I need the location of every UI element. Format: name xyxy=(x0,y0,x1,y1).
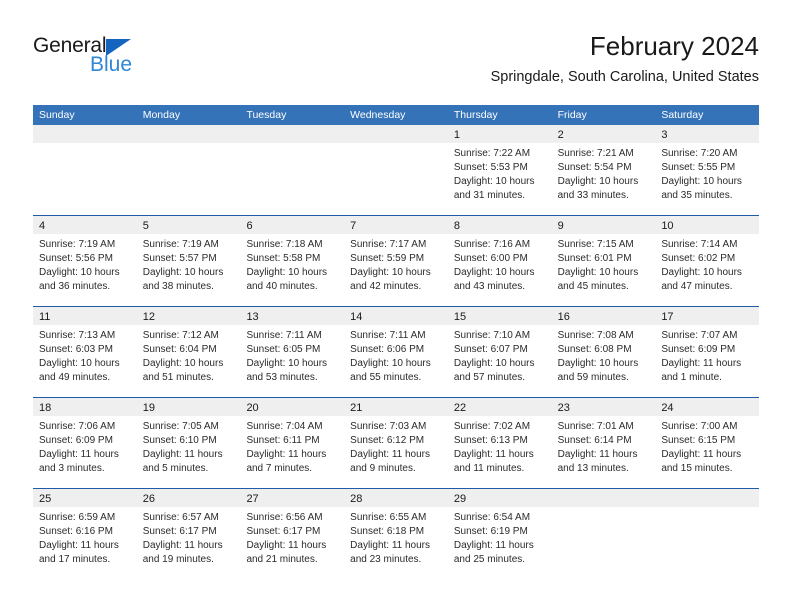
day-details: Sunrise: 6:56 AM Sunset: 6:17 PM Dayligh… xyxy=(240,507,344,567)
day-details: Sunrise: 7:15 AM Sunset: 6:01 PM Dayligh… xyxy=(552,234,656,294)
daylight-text-line2: and 5 minutes. xyxy=(143,462,235,476)
daylight-text-line2: and 23 minutes. xyxy=(350,553,442,567)
day-cell[interactable]: 27 Sunrise: 6:56 AM Sunset: 6:17 PM Dayl… xyxy=(240,489,344,579)
daylight-text-line2: and 45 minutes. xyxy=(558,280,650,294)
daylight-text-line2: and 31 minutes. xyxy=(454,189,546,203)
sunset-text: Sunset: 6:16 PM xyxy=(39,525,131,539)
sunset-text: Sunset: 6:05 PM xyxy=(246,343,338,357)
page-title: February 2024 xyxy=(491,30,759,62)
calendar-page: General Blue February 2024 Springdale, S… xyxy=(0,0,792,612)
daylight-text-line2: and 36 minutes. xyxy=(39,280,131,294)
weekday-header-tuesday: Tuesday xyxy=(240,105,344,125)
sunrise-text: Sunrise: 7:19 AM xyxy=(39,238,131,252)
sunset-text: Sunset: 5:56 PM xyxy=(39,252,131,266)
day-number: 26 xyxy=(143,493,155,505)
sunset-text: Sunset: 6:09 PM xyxy=(661,343,753,357)
daylight-text-line2: and 49 minutes. xyxy=(39,371,131,385)
day-number: 15 xyxy=(454,311,466,323)
daylight-text-line2: and 47 minutes. xyxy=(661,280,753,294)
day-number: 2 xyxy=(558,129,564,141)
day-number: 29 xyxy=(454,493,466,505)
daylight-text-line1: Daylight: 11 hours xyxy=(246,448,338,462)
daylight-text-line1: Daylight: 11 hours xyxy=(350,539,442,553)
logo-text-blue: Blue xyxy=(90,53,132,77)
day-details xyxy=(344,143,448,147)
day-number-band xyxy=(344,125,448,143)
daylight-text-line2: and 7 minutes. xyxy=(246,462,338,476)
day-cell[interactable]: 7 Sunrise: 7:17 AM Sunset: 5:59 PM Dayli… xyxy=(344,216,448,306)
day-cell[interactable]: 5 Sunrise: 7:19 AM Sunset: 5:57 PM Dayli… xyxy=(137,216,241,306)
day-cell[interactable]: 29 Sunrise: 6:54 AM Sunset: 6:19 PM Dayl… xyxy=(448,489,552,579)
day-details: Sunrise: 7:18 AM Sunset: 5:58 PM Dayligh… xyxy=(240,234,344,294)
day-details: Sunrise: 6:55 AM Sunset: 6:18 PM Dayligh… xyxy=(344,507,448,567)
day-details: Sunrise: 7:01 AM Sunset: 6:14 PM Dayligh… xyxy=(552,416,656,476)
title-block: February 2024 Springdale, South Carolina… xyxy=(491,30,759,87)
sunrise-text: Sunrise: 7:06 AM xyxy=(39,420,131,434)
weekday-header-thursday: Thursday xyxy=(448,105,552,125)
daylight-text-line1: Daylight: 10 hours xyxy=(558,266,650,280)
daylight-text-line1: Daylight: 10 hours xyxy=(661,266,753,280)
day-details: Sunrise: 7:07 AM Sunset: 6:09 PM Dayligh… xyxy=(655,325,759,385)
day-cell[interactable]: 18 Sunrise: 7:06 AM Sunset: 6:09 PM Dayl… xyxy=(33,398,137,488)
sunrise-text: Sunrise: 7:18 AM xyxy=(246,238,338,252)
day-number: 18 xyxy=(39,402,51,414)
daylight-text-line1: Daylight: 10 hours xyxy=(143,266,235,280)
daylight-text-line1: Daylight: 11 hours xyxy=(143,448,235,462)
general-blue-logo[interactable]: General Blue xyxy=(33,34,233,82)
day-details: Sunrise: 7:11 AM Sunset: 6:06 PM Dayligh… xyxy=(344,325,448,385)
sunset-text: Sunset: 6:14 PM xyxy=(558,434,650,448)
daylight-text-line1: Daylight: 11 hours xyxy=(39,539,131,553)
sunrise-text: Sunrise: 7:00 AM xyxy=(661,420,753,434)
day-cell[interactable]: 28 Sunrise: 6:55 AM Sunset: 6:18 PM Dayl… xyxy=(344,489,448,579)
sunrise-text: Sunrise: 7:01 AM xyxy=(558,420,650,434)
daylight-text-line1: Daylight: 10 hours xyxy=(39,357,131,371)
day-number-band: 7 xyxy=(344,216,448,234)
sunset-text: Sunset: 5:54 PM xyxy=(558,161,650,175)
day-cell[interactable]: 4 Sunrise: 7:19 AM Sunset: 5:56 PM Dayli… xyxy=(33,216,137,306)
day-details: Sunrise: 7:02 AM Sunset: 6:13 PM Dayligh… xyxy=(448,416,552,476)
daylight-text-line1: Daylight: 11 hours xyxy=(661,357,753,371)
day-number-band: 27 xyxy=(240,489,344,507)
day-details: Sunrise: 7:12 AM Sunset: 6:04 PM Dayligh… xyxy=(137,325,241,385)
sunrise-text: Sunrise: 6:54 AM xyxy=(454,511,546,525)
day-number-band: 29 xyxy=(448,489,552,507)
sunset-text: Sunset: 6:00 PM xyxy=(454,252,546,266)
day-number-band: 6 xyxy=(240,216,344,234)
daylight-text-line1: Daylight: 11 hours xyxy=(661,448,753,462)
day-number: 23 xyxy=(558,402,570,414)
day-details: Sunrise: 7:00 AM Sunset: 6:15 PM Dayligh… xyxy=(655,416,759,476)
day-details xyxy=(552,507,656,511)
day-cell[interactable]: 26 Sunrise: 6:57 AM Sunset: 6:17 PM Dayl… xyxy=(137,489,241,579)
day-details: Sunrise: 7:14 AM Sunset: 6:02 PM Dayligh… xyxy=(655,234,759,294)
sunrise-text: Sunrise: 7:11 AM xyxy=(350,329,442,343)
sunrise-text: Sunrise: 7:13 AM xyxy=(39,329,131,343)
sunrise-text: Sunrise: 7:22 AM xyxy=(454,147,546,161)
day-cell[interactable]: 8 Sunrise: 7:16 AM Sunset: 6:00 PM Dayli… xyxy=(448,216,552,306)
daylight-text-line2: and 33 minutes. xyxy=(558,189,650,203)
sunrise-text: Sunrise: 7:14 AM xyxy=(661,238,753,252)
sunrise-text: Sunrise: 7:05 AM xyxy=(143,420,235,434)
sunrise-text: Sunrise: 7:02 AM xyxy=(454,420,546,434)
day-number: 20 xyxy=(246,402,258,414)
weekday-header-sunday: Sunday xyxy=(33,105,137,125)
day-details: Sunrise: 7:10 AM Sunset: 6:07 PM Dayligh… xyxy=(448,325,552,385)
day-cell xyxy=(240,125,344,215)
day-cell[interactable]: 14 Sunrise: 7:11 AM Sunset: 6:06 PM Dayl… xyxy=(344,307,448,397)
daylight-text-line1: Daylight: 10 hours xyxy=(350,266,442,280)
sunrise-text: Sunrise: 7:16 AM xyxy=(454,238,546,252)
day-number-band: 12 xyxy=(137,307,241,325)
day-details: Sunrise: 7:05 AM Sunset: 6:10 PM Dayligh… xyxy=(137,416,241,476)
day-number-band: 20 xyxy=(240,398,344,416)
daylight-text-line2: and 55 minutes. xyxy=(350,371,442,385)
day-number-band: 11 xyxy=(33,307,137,325)
sunrise-text: Sunrise: 7:03 AM xyxy=(350,420,442,434)
day-number-band xyxy=(33,125,137,143)
day-cell[interactable]: 24 Sunrise: 7:00 AM Sunset: 6:15 PM Dayl… xyxy=(655,398,759,488)
sunset-text: Sunset: 6:03 PM xyxy=(39,343,131,357)
daylight-text-line1: Daylight: 10 hours xyxy=(558,357,650,371)
sunrise-text: Sunrise: 7:08 AM xyxy=(558,329,650,343)
day-number: 1 xyxy=(454,129,460,141)
sunrise-text: Sunrise: 6:59 AM xyxy=(39,511,131,525)
day-details: Sunrise: 7:03 AM Sunset: 6:12 PM Dayligh… xyxy=(344,416,448,476)
day-number-band: 21 xyxy=(344,398,448,416)
sunrise-text: Sunrise: 7:15 AM xyxy=(558,238,650,252)
day-cell[interactable]: 23 Sunrise: 7:01 AM Sunset: 6:14 PM Dayl… xyxy=(552,398,656,488)
daylight-text-line2: and 25 minutes. xyxy=(454,553,546,567)
sunset-text: Sunset: 6:15 PM xyxy=(661,434,753,448)
daylight-text-line2: and 57 minutes. xyxy=(454,371,546,385)
day-cell xyxy=(33,125,137,215)
daylight-text-line2: and 38 minutes. xyxy=(143,280,235,294)
sunset-text: Sunset: 5:53 PM xyxy=(454,161,546,175)
day-number-band: 2 xyxy=(552,125,656,143)
day-details: Sunrise: 7:06 AM Sunset: 6:09 PM Dayligh… xyxy=(33,416,137,476)
day-cell[interactable]: 1 Sunrise: 7:22 AM Sunset: 5:53 PM Dayli… xyxy=(448,125,552,215)
day-number-band: 24 xyxy=(655,398,759,416)
day-number: 11 xyxy=(39,311,50,323)
day-details: Sunrise: 7:16 AM Sunset: 6:00 PM Dayligh… xyxy=(448,234,552,294)
day-number: 8 xyxy=(454,220,460,232)
sunrise-text: Sunrise: 6:56 AM xyxy=(246,511,338,525)
day-cell[interactable]: 9 Sunrise: 7:15 AM Sunset: 6:01 PM Dayli… xyxy=(552,216,656,306)
day-number-band: 10 xyxy=(655,216,759,234)
day-details: Sunrise: 7:08 AM Sunset: 6:08 PM Dayligh… xyxy=(552,325,656,385)
daylight-text-line2: and 42 minutes. xyxy=(350,280,442,294)
day-details: Sunrise: 7:21 AM Sunset: 5:54 PM Dayligh… xyxy=(552,143,656,203)
day-number-band: 17 xyxy=(655,307,759,325)
day-details: Sunrise: 7:11 AM Sunset: 6:05 PM Dayligh… xyxy=(240,325,344,385)
week-row: 4 Sunrise: 7:19 AM Sunset: 5:56 PM Dayli… xyxy=(33,215,759,306)
day-number: 7 xyxy=(350,220,356,232)
daylight-text-line1: Daylight: 11 hours xyxy=(454,448,546,462)
daylight-text-line1: Daylight: 10 hours xyxy=(454,357,546,371)
day-number-band: 18 xyxy=(33,398,137,416)
sunrise-text: Sunrise: 7:20 AM xyxy=(661,147,753,161)
sunrise-text: Sunrise: 7:12 AM xyxy=(143,329,235,343)
sunset-text: Sunset: 5:59 PM xyxy=(350,252,442,266)
day-details: Sunrise: 6:57 AM Sunset: 6:17 PM Dayligh… xyxy=(137,507,241,567)
day-number: 9 xyxy=(558,220,564,232)
day-cell[interactable]: 21 Sunrise: 7:03 AM Sunset: 6:12 PM Dayl… xyxy=(344,398,448,488)
day-number-band xyxy=(655,489,759,507)
day-details: Sunrise: 7:22 AM Sunset: 5:53 PM Dayligh… xyxy=(448,143,552,203)
week-row: 1 Sunrise: 7:22 AM Sunset: 5:53 PM Dayli… xyxy=(33,125,759,215)
daylight-text-line2: and 21 minutes. xyxy=(246,553,338,567)
week-row: 25 Sunrise: 6:59 AM Sunset: 6:16 PM Dayl… xyxy=(33,488,759,579)
day-cell[interactable]: 16 Sunrise: 7:08 AM Sunset: 6:08 PM Dayl… xyxy=(552,307,656,397)
day-cell[interactable]: 2 Sunrise: 7:21 AM Sunset: 5:54 PM Dayli… xyxy=(552,125,656,215)
sunrise-text: Sunrise: 7:10 AM xyxy=(454,329,546,343)
sunset-text: Sunset: 6:07 PM xyxy=(454,343,546,357)
day-number: 4 xyxy=(39,220,45,232)
daylight-text-line2: and 1 minute. xyxy=(661,371,753,385)
day-number-band: 25 xyxy=(33,489,137,507)
day-number-band: 3 xyxy=(655,125,759,143)
daylight-text-line2: and 53 minutes. xyxy=(246,371,338,385)
day-cell[interactable]: 12 Sunrise: 7:12 AM Sunset: 6:04 PM Dayl… xyxy=(137,307,241,397)
daylight-text-line2: and 13 minutes. xyxy=(558,462,650,476)
day-number-band: 14 xyxy=(344,307,448,325)
daylight-text-line1: Daylight: 11 hours xyxy=(558,448,650,462)
daylight-text-line1: Daylight: 11 hours xyxy=(350,448,442,462)
day-cell[interactable]: 11 Sunrise: 7:13 AM Sunset: 6:03 PM Dayl… xyxy=(33,307,137,397)
day-number: 12 xyxy=(143,311,155,323)
sunset-text: Sunset: 6:06 PM xyxy=(350,343,442,357)
sunset-text: Sunset: 6:01 PM xyxy=(558,252,650,266)
day-number: 27 xyxy=(246,493,258,505)
day-number-band: 28 xyxy=(344,489,448,507)
day-number: 17 xyxy=(661,311,673,323)
day-number-band: 1 xyxy=(448,125,552,143)
weekday-header-row: Sunday Monday Tuesday Wednesday Thursday… xyxy=(33,105,759,125)
day-details: Sunrise: 7:20 AM Sunset: 5:55 PM Dayligh… xyxy=(655,143,759,203)
sunset-text: Sunset: 5:55 PM xyxy=(661,161,753,175)
daylight-text-line1: Daylight: 10 hours xyxy=(558,175,650,189)
sunrise-text: Sunrise: 7:21 AM xyxy=(558,147,650,161)
week-row: 18 Sunrise: 7:06 AM Sunset: 6:09 PM Dayl… xyxy=(33,397,759,488)
day-details: Sunrise: 6:54 AM Sunset: 6:19 PM Dayligh… xyxy=(448,507,552,567)
day-details: Sunrise: 7:04 AM Sunset: 6:11 PM Dayligh… xyxy=(240,416,344,476)
day-number-band: 23 xyxy=(552,398,656,416)
day-cell[interactable]: 22 Sunrise: 7:02 AM Sunset: 6:13 PM Dayl… xyxy=(448,398,552,488)
sunrise-text: Sunrise: 7:11 AM xyxy=(246,329,338,343)
day-cell xyxy=(137,125,241,215)
day-cell[interactable]: 3 Sunrise: 7:20 AM Sunset: 5:55 PM Dayli… xyxy=(655,125,759,215)
day-number: 21 xyxy=(350,402,362,414)
daylight-text-line1: Daylight: 10 hours xyxy=(454,175,546,189)
day-cell[interactable]: 19 Sunrise: 7:05 AM Sunset: 6:10 PM Dayl… xyxy=(137,398,241,488)
day-cell[interactable]: 13 Sunrise: 7:11 AM Sunset: 6:05 PM Dayl… xyxy=(240,307,344,397)
day-cell[interactable]: 25 Sunrise: 6:59 AM Sunset: 6:16 PM Dayl… xyxy=(33,489,137,579)
daylight-text-line1: Daylight: 11 hours xyxy=(39,448,131,462)
daylight-text-line1: Daylight: 10 hours xyxy=(143,357,235,371)
daylight-text-line1: Daylight: 11 hours xyxy=(143,539,235,553)
sunset-text: Sunset: 6:04 PM xyxy=(143,343,235,357)
day-cell[interactable]: 17 Sunrise: 7:07 AM Sunset: 6:09 PM Dayl… xyxy=(655,307,759,397)
daylight-text-line2: and 11 minutes. xyxy=(454,462,546,476)
day-number-band: 8 xyxy=(448,216,552,234)
day-number: 25 xyxy=(39,493,51,505)
week-row: 11 Sunrise: 7:13 AM Sunset: 6:03 PM Dayl… xyxy=(33,306,759,397)
day-number-band: 19 xyxy=(137,398,241,416)
day-cell xyxy=(552,489,656,579)
day-number: 22 xyxy=(454,402,466,414)
day-number: 28 xyxy=(350,493,362,505)
daylight-text-line1: Daylight: 10 hours xyxy=(661,175,753,189)
day-details xyxy=(137,143,241,147)
sunrise-text: Sunrise: 7:07 AM xyxy=(661,329,753,343)
sunset-text: Sunset: 6:18 PM xyxy=(350,525,442,539)
daylight-text-line2: and 35 minutes. xyxy=(661,189,753,203)
location-subtitle: Springdale, South Carolina, United State… xyxy=(491,67,759,87)
day-number-band: 26 xyxy=(137,489,241,507)
daylight-text-line2: and 59 minutes. xyxy=(558,371,650,385)
day-number: 10 xyxy=(661,220,673,232)
sunset-text: Sunset: 6:19 PM xyxy=(454,525,546,539)
day-number: 19 xyxy=(143,402,155,414)
sunrise-text: Sunrise: 7:17 AM xyxy=(350,238,442,252)
day-details xyxy=(240,143,344,147)
daylight-text-line2: and 15 minutes. xyxy=(661,462,753,476)
calendar-grid: Sunday Monday Tuesday Wednesday Thursday… xyxy=(33,105,759,579)
day-details xyxy=(33,143,137,147)
day-details: Sunrise: 7:13 AM Sunset: 6:03 PM Dayligh… xyxy=(33,325,137,385)
day-cell[interactable]: 6 Sunrise: 7:18 AM Sunset: 5:58 PM Dayli… xyxy=(240,216,344,306)
daylight-text-line1: Daylight: 10 hours xyxy=(246,266,338,280)
day-number: 3 xyxy=(661,129,667,141)
daylight-text-line2: and 43 minutes. xyxy=(454,280,546,294)
daylight-text-line2: and 3 minutes. xyxy=(39,462,131,476)
day-cell[interactable]: 10 Sunrise: 7:14 AM Sunset: 6:02 PM Dayl… xyxy=(655,216,759,306)
sunset-text: Sunset: 6:11 PM xyxy=(246,434,338,448)
weekday-header-saturday: Saturday xyxy=(655,105,759,125)
day-number: 13 xyxy=(246,311,258,323)
sunset-text: Sunset: 6:08 PM xyxy=(558,343,650,357)
sunset-text: Sunset: 6:02 PM xyxy=(661,252,753,266)
sunset-text: Sunset: 6:17 PM xyxy=(246,525,338,539)
day-details: Sunrise: 6:59 AM Sunset: 6:16 PM Dayligh… xyxy=(33,507,137,567)
sunset-text: Sunset: 6:12 PM xyxy=(350,434,442,448)
day-number: 5 xyxy=(143,220,149,232)
sunrise-text: Sunrise: 7:04 AM xyxy=(246,420,338,434)
day-number: 16 xyxy=(558,311,570,323)
sunset-text: Sunset: 6:10 PM xyxy=(143,434,235,448)
day-number: 24 xyxy=(661,402,673,414)
daylight-text-line1: Daylight: 11 hours xyxy=(454,539,546,553)
day-cell[interactable]: 20 Sunrise: 7:04 AM Sunset: 6:11 PM Dayl… xyxy=(240,398,344,488)
day-number-band: 4 xyxy=(33,216,137,234)
sunset-text: Sunset: 6:13 PM xyxy=(454,434,546,448)
daylight-text-line2: and 51 minutes. xyxy=(143,371,235,385)
daylight-text-line1: Daylight: 10 hours xyxy=(39,266,131,280)
day-cell xyxy=(344,125,448,215)
sunrise-text: Sunrise: 6:55 AM xyxy=(350,511,442,525)
daylight-text-line1: Daylight: 11 hours xyxy=(246,539,338,553)
daylight-text-line1: Daylight: 10 hours xyxy=(454,266,546,280)
weekday-header-monday: Monday xyxy=(137,105,241,125)
sunset-text: Sunset: 6:09 PM xyxy=(39,434,131,448)
day-number-band: 22 xyxy=(448,398,552,416)
day-details: Sunrise: 7:19 AM Sunset: 5:56 PM Dayligh… xyxy=(33,234,137,294)
daylight-text-line2: and 17 minutes. xyxy=(39,553,131,567)
page-header: General Blue February 2024 Springdale, S… xyxy=(33,30,759,92)
sunrise-text: Sunrise: 6:57 AM xyxy=(143,511,235,525)
weekday-header-wednesday: Wednesday xyxy=(344,105,448,125)
sunset-text: Sunset: 5:58 PM xyxy=(246,252,338,266)
day-number: 14 xyxy=(350,311,362,323)
weekday-header-friday: Friday xyxy=(552,105,656,125)
day-cell xyxy=(655,489,759,579)
daylight-text-line1: Daylight: 10 hours xyxy=(246,357,338,371)
day-number-band: 13 xyxy=(240,307,344,325)
day-number-band: 16 xyxy=(552,307,656,325)
day-details: Sunrise: 7:19 AM Sunset: 5:57 PM Dayligh… xyxy=(137,234,241,294)
day-number-band xyxy=(137,125,241,143)
day-number-band: 15 xyxy=(448,307,552,325)
sunrise-text: Sunrise: 7:19 AM xyxy=(143,238,235,252)
day-number-band xyxy=(240,125,344,143)
daylight-text-line1: Daylight: 10 hours xyxy=(350,357,442,371)
day-number-band: 9 xyxy=(552,216,656,234)
day-number-band: 5 xyxy=(137,216,241,234)
day-number-band xyxy=(552,489,656,507)
daylight-text-line2: and 19 minutes. xyxy=(143,553,235,567)
day-cell[interactable]: 15 Sunrise: 7:10 AM Sunset: 6:07 PM Dayl… xyxy=(448,307,552,397)
day-details xyxy=(655,507,759,511)
daylight-text-line2: and 40 minutes. xyxy=(246,280,338,294)
daylight-text-line2: and 9 minutes. xyxy=(350,462,442,476)
sunset-text: Sunset: 5:57 PM xyxy=(143,252,235,266)
sunset-text: Sunset: 6:17 PM xyxy=(143,525,235,539)
day-number: 6 xyxy=(246,220,252,232)
day-details: Sunrise: 7:17 AM Sunset: 5:59 PM Dayligh… xyxy=(344,234,448,294)
